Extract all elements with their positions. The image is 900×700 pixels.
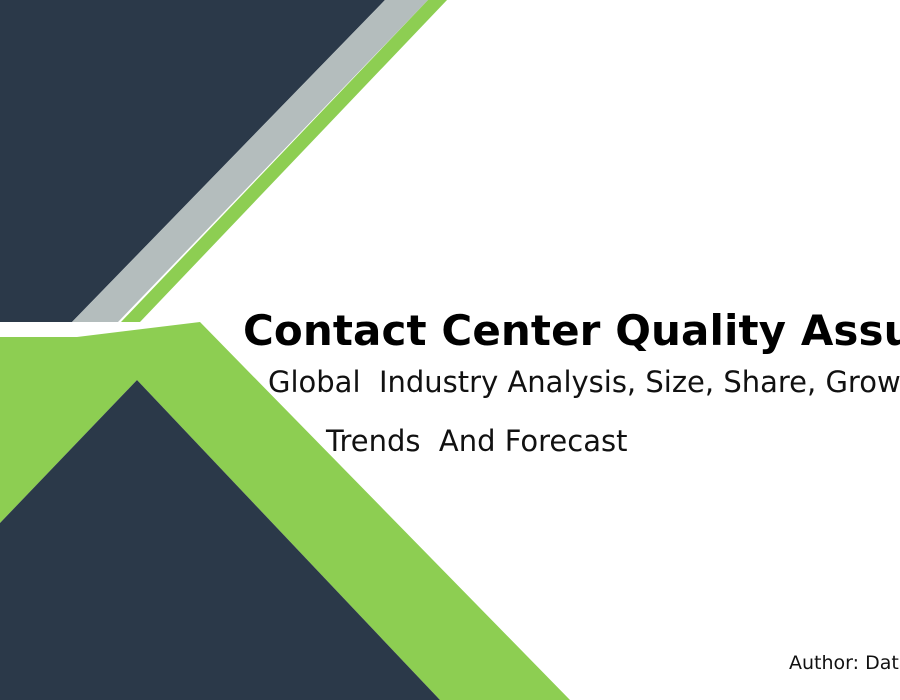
author-label: Author: Data (789, 652, 900, 674)
cover-text-layer: Contact Center Quality Assuran Global In… (0, 0, 900, 700)
subtitle-line-1: Global Industry Analysis, Size, Share, G… (268, 366, 900, 398)
subtitle-line-2: Trends And Forecast (326, 425, 627, 457)
report-cover-slide: Contact Center Quality Assuran Global In… (0, 0, 900, 700)
page-title: Contact Center Quality Assuran (243, 308, 900, 353)
